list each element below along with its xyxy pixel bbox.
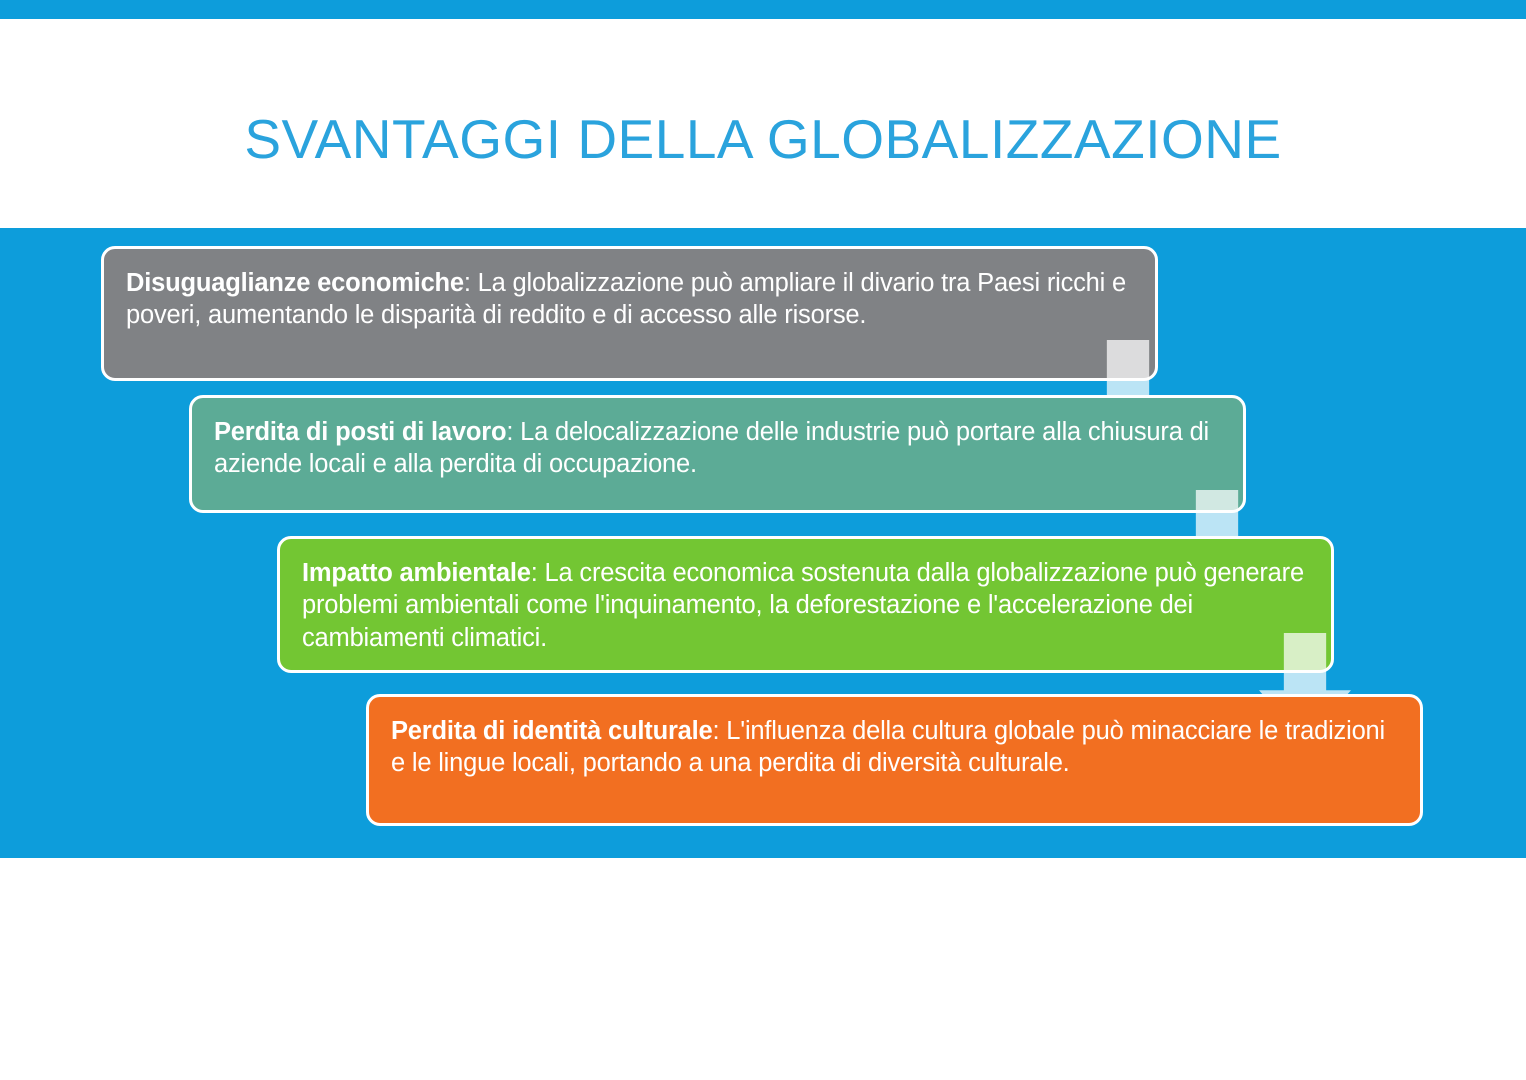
step-card-4-lead: Perdita di identità culturale [391,717,713,745]
content-panel: Disuguaglianze economiche: La globalizza… [0,228,1526,858]
step-card-2-lead: Perdita di posti di lavoro [214,418,506,446]
step-card-3-lead: Impatto ambientale [302,559,531,587]
step-card-1-lead: Disuguaglianze economiche [126,269,464,297]
top-accent-bar [0,0,1526,19]
step-card-2[interactable]: Perdita di posti di lavoro: La delocaliz… [189,395,1246,513]
page-title: SVANTAGGI DELLA GLOBALIZZAZIONE [0,107,1526,171]
title-area: SVANTAGGI DELLA GLOBALIZZAZIONE [0,19,1526,228]
bottom-white-area [0,858,1526,1080]
steps-stack: Disuguaglianze economiche: La globalizza… [0,228,1526,858]
step-card-1[interactable]: Disuguaglianze economiche: La globalizza… [101,246,1158,381]
step-card-3[interactable]: Impatto ambientale: La crescita economic… [277,536,1334,673]
step-card-4[interactable]: Perdita di identità culturale: L'influen… [366,694,1423,826]
